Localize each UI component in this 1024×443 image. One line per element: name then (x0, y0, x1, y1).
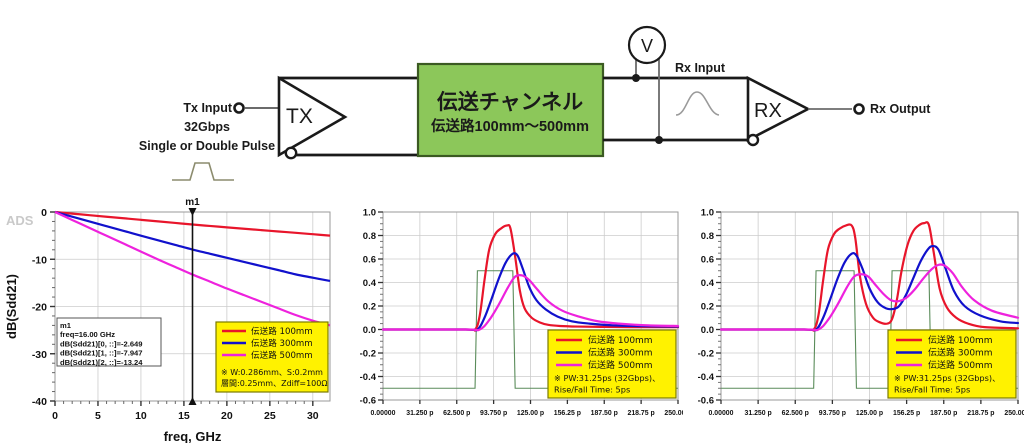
chart-sdd21-svg: ADS0-10-20-30-40051015202530freq, GHzdB(… (0, 192, 341, 443)
x-tick-label: 25 (264, 410, 276, 422)
x-tick-label: 0.00000 (371, 410, 396, 417)
tx-input-label: Tx Input (183, 101, 232, 115)
legend-label: 伝送路 100mm (251, 325, 313, 337)
x-tick-label: 156.25 p (554, 410, 581, 417)
y-tick-label: -30 (32, 349, 47, 361)
legend-label: 伝送路 300mm (588, 347, 653, 359)
x-tick-label: 187.50 p (591, 410, 618, 417)
marker-name: m1 (185, 197, 200, 208)
chart-single-pulse: 1.00.80.60.40.20.0-0.2-0.4-0.60.0000031.… (345, 192, 684, 443)
charts-row: ADS0-10-20-30-40051015202530freq, GHzdB(… (0, 192, 1024, 443)
y-tick-label: 0.2 (363, 302, 376, 313)
tx-input-wire (235, 104, 279, 113)
y-tick-label: 0.0 (363, 325, 376, 336)
rx-output-label: Rx Output (870, 102, 931, 116)
tx-rate-label: 32Gbps (184, 120, 230, 134)
x-axis-label: freq, GHz (164, 429, 222, 443)
channel-title: 伝送チャンネル (437, 90, 583, 114)
y-tick-label: -10 (32, 254, 47, 266)
y-tick-label: -20 (32, 302, 47, 314)
x-tick-label: 15 (178, 410, 190, 422)
x-tick-label: 250.00 p (664, 410, 684, 417)
marker-readout-line: dB(Sdd21)[1, ::]=-7.947 (60, 349, 143, 358)
x-tick-label: 93.750 p (480, 410, 507, 417)
y-tick-label: -0.6 (360, 396, 376, 407)
y-tick-label: 0.6 (363, 255, 376, 266)
x-tick-label: 0.00000 (709, 410, 734, 417)
legend-note: 層間:0.25mm、Zdiff=100Ω (221, 379, 327, 388)
chart-double-pulse-svg: 1.00.80.60.40.20.0-0.2-0.4-0.60.0000031.… (683, 192, 1024, 443)
legend-label: 伝送路 500mm (588, 359, 653, 371)
y-tick-label: -0.4 (698, 372, 715, 383)
x-tick-label: 10 (135, 410, 147, 422)
x-tick-label: 218.75 p (967, 410, 994, 417)
marker-readout-line: freq=16.00 GHz (60, 330, 115, 339)
voltmeter: V (629, 27, 665, 144)
x-tick-label: 30 (307, 410, 319, 422)
legend-label: 伝送路 300mm (928, 347, 993, 359)
y-tick-label: 0.8 (363, 231, 376, 242)
legend-note: ※ PW:31.25ps (32Gbps)、 (894, 373, 1000, 383)
legend-label: 伝送路 500mm (251, 349, 313, 361)
legend-note: Rise/Fall Time: 5ps (554, 385, 630, 395)
input-pulse-waveform (172, 163, 234, 180)
x-tick-label: 218.75 p (628, 410, 655, 417)
marker-readout-line: dB(Sdd21)[2, ::]=-13.24 (60, 358, 143, 367)
x-tick-label: 93.750 p (819, 410, 846, 417)
x-tick-label: 125.00 p (517, 410, 544, 417)
y-tick-label: -0.4 (360, 372, 377, 383)
x-tick-label: 20 (221, 410, 233, 422)
y-tick-label: 0.8 (701, 231, 714, 242)
tx-label: TX (286, 105, 313, 128)
x-tick-label: 187.50 p (930, 410, 957, 417)
y-tick-label: -0.2 (360, 349, 376, 360)
block-diagram: Tx Input 32Gbps Single or Double Pulse T… (0, 0, 1024, 190)
y-axis-label: dB(Sdd21) (4, 274, 19, 339)
legend-label: 伝送路 300mm (251, 337, 313, 349)
y-tick-label: 0.0 (701, 325, 714, 336)
channel-subtitle: 伝送路100mm～500mm (431, 117, 589, 135)
y-tick-label: 0.4 (701, 278, 715, 289)
legend-label: 伝送路 100mm (588, 334, 653, 346)
chart-single-pulse-svg: 1.00.80.60.40.20.0-0.2-0.4-0.60.0000031.… (345, 192, 684, 443)
x-tick-label: 125.00 p (856, 410, 883, 417)
legend-note: ※ PW:31.25ps (32Gbps)、 (554, 373, 660, 383)
x-tick-label: 31.250 p (745, 410, 772, 417)
y-tick-label: 0.4 (363, 278, 377, 289)
rx-input-label: Rx Input (675, 61, 726, 75)
x-tick-label: 0 (52, 410, 58, 422)
chart-double-pulse: 1.00.80.60.40.20.0-0.2-0.4-0.60.0000031.… (683, 192, 1024, 443)
legend-label: 伝送路 500mm (928, 359, 993, 371)
marker-readout-line: dB(Sdd21)[0, ::]=-2.649 (60, 339, 143, 348)
legend-note: ※ W:0.286mm、S:0.2mm (221, 368, 323, 377)
x-tick-label: 250.00 p (1004, 410, 1024, 417)
voltmeter-label: V (641, 36, 653, 56)
x-tick-label: 5 (95, 410, 101, 422)
legend-label: 伝送路 100mm (928, 334, 993, 346)
y-tick-label: -40 (32, 396, 47, 408)
rx-pulse-waveform (676, 92, 719, 115)
chart-sdd21: ADS0-10-20-30-40051015202530freq, GHzdB(… (0, 192, 341, 443)
tx-pulse-label: Single or Double Pulse (139, 139, 275, 153)
y-tick-label: 1.0 (701, 208, 714, 219)
chart-bg (345, 192, 684, 443)
y-tick-label: -0.2 (698, 349, 714, 360)
x-tick-label: 62.500 p (443, 410, 470, 417)
legend-note: Rise/Fall Time: 5ps (894, 385, 970, 395)
rx-label: RX (754, 100, 782, 122)
y-tick-label: 0 (41, 207, 47, 219)
y-tick-label: 1.0 (363, 208, 376, 219)
ads-watermark: ADS (6, 213, 34, 228)
y-tick-label: 0.6 (701, 255, 714, 266)
marker-readout-line: m1 (60, 321, 72, 330)
rx-output-wire (808, 105, 864, 114)
y-tick-label: -0.6 (698, 396, 714, 407)
x-tick-label: 156.25 p (893, 410, 920, 417)
y-tick-label: 0.2 (701, 302, 714, 313)
x-tick-label: 31.250 p (406, 410, 433, 417)
x-tick-label: 62.500 p (782, 410, 809, 417)
chart-bg (0, 192, 341, 443)
